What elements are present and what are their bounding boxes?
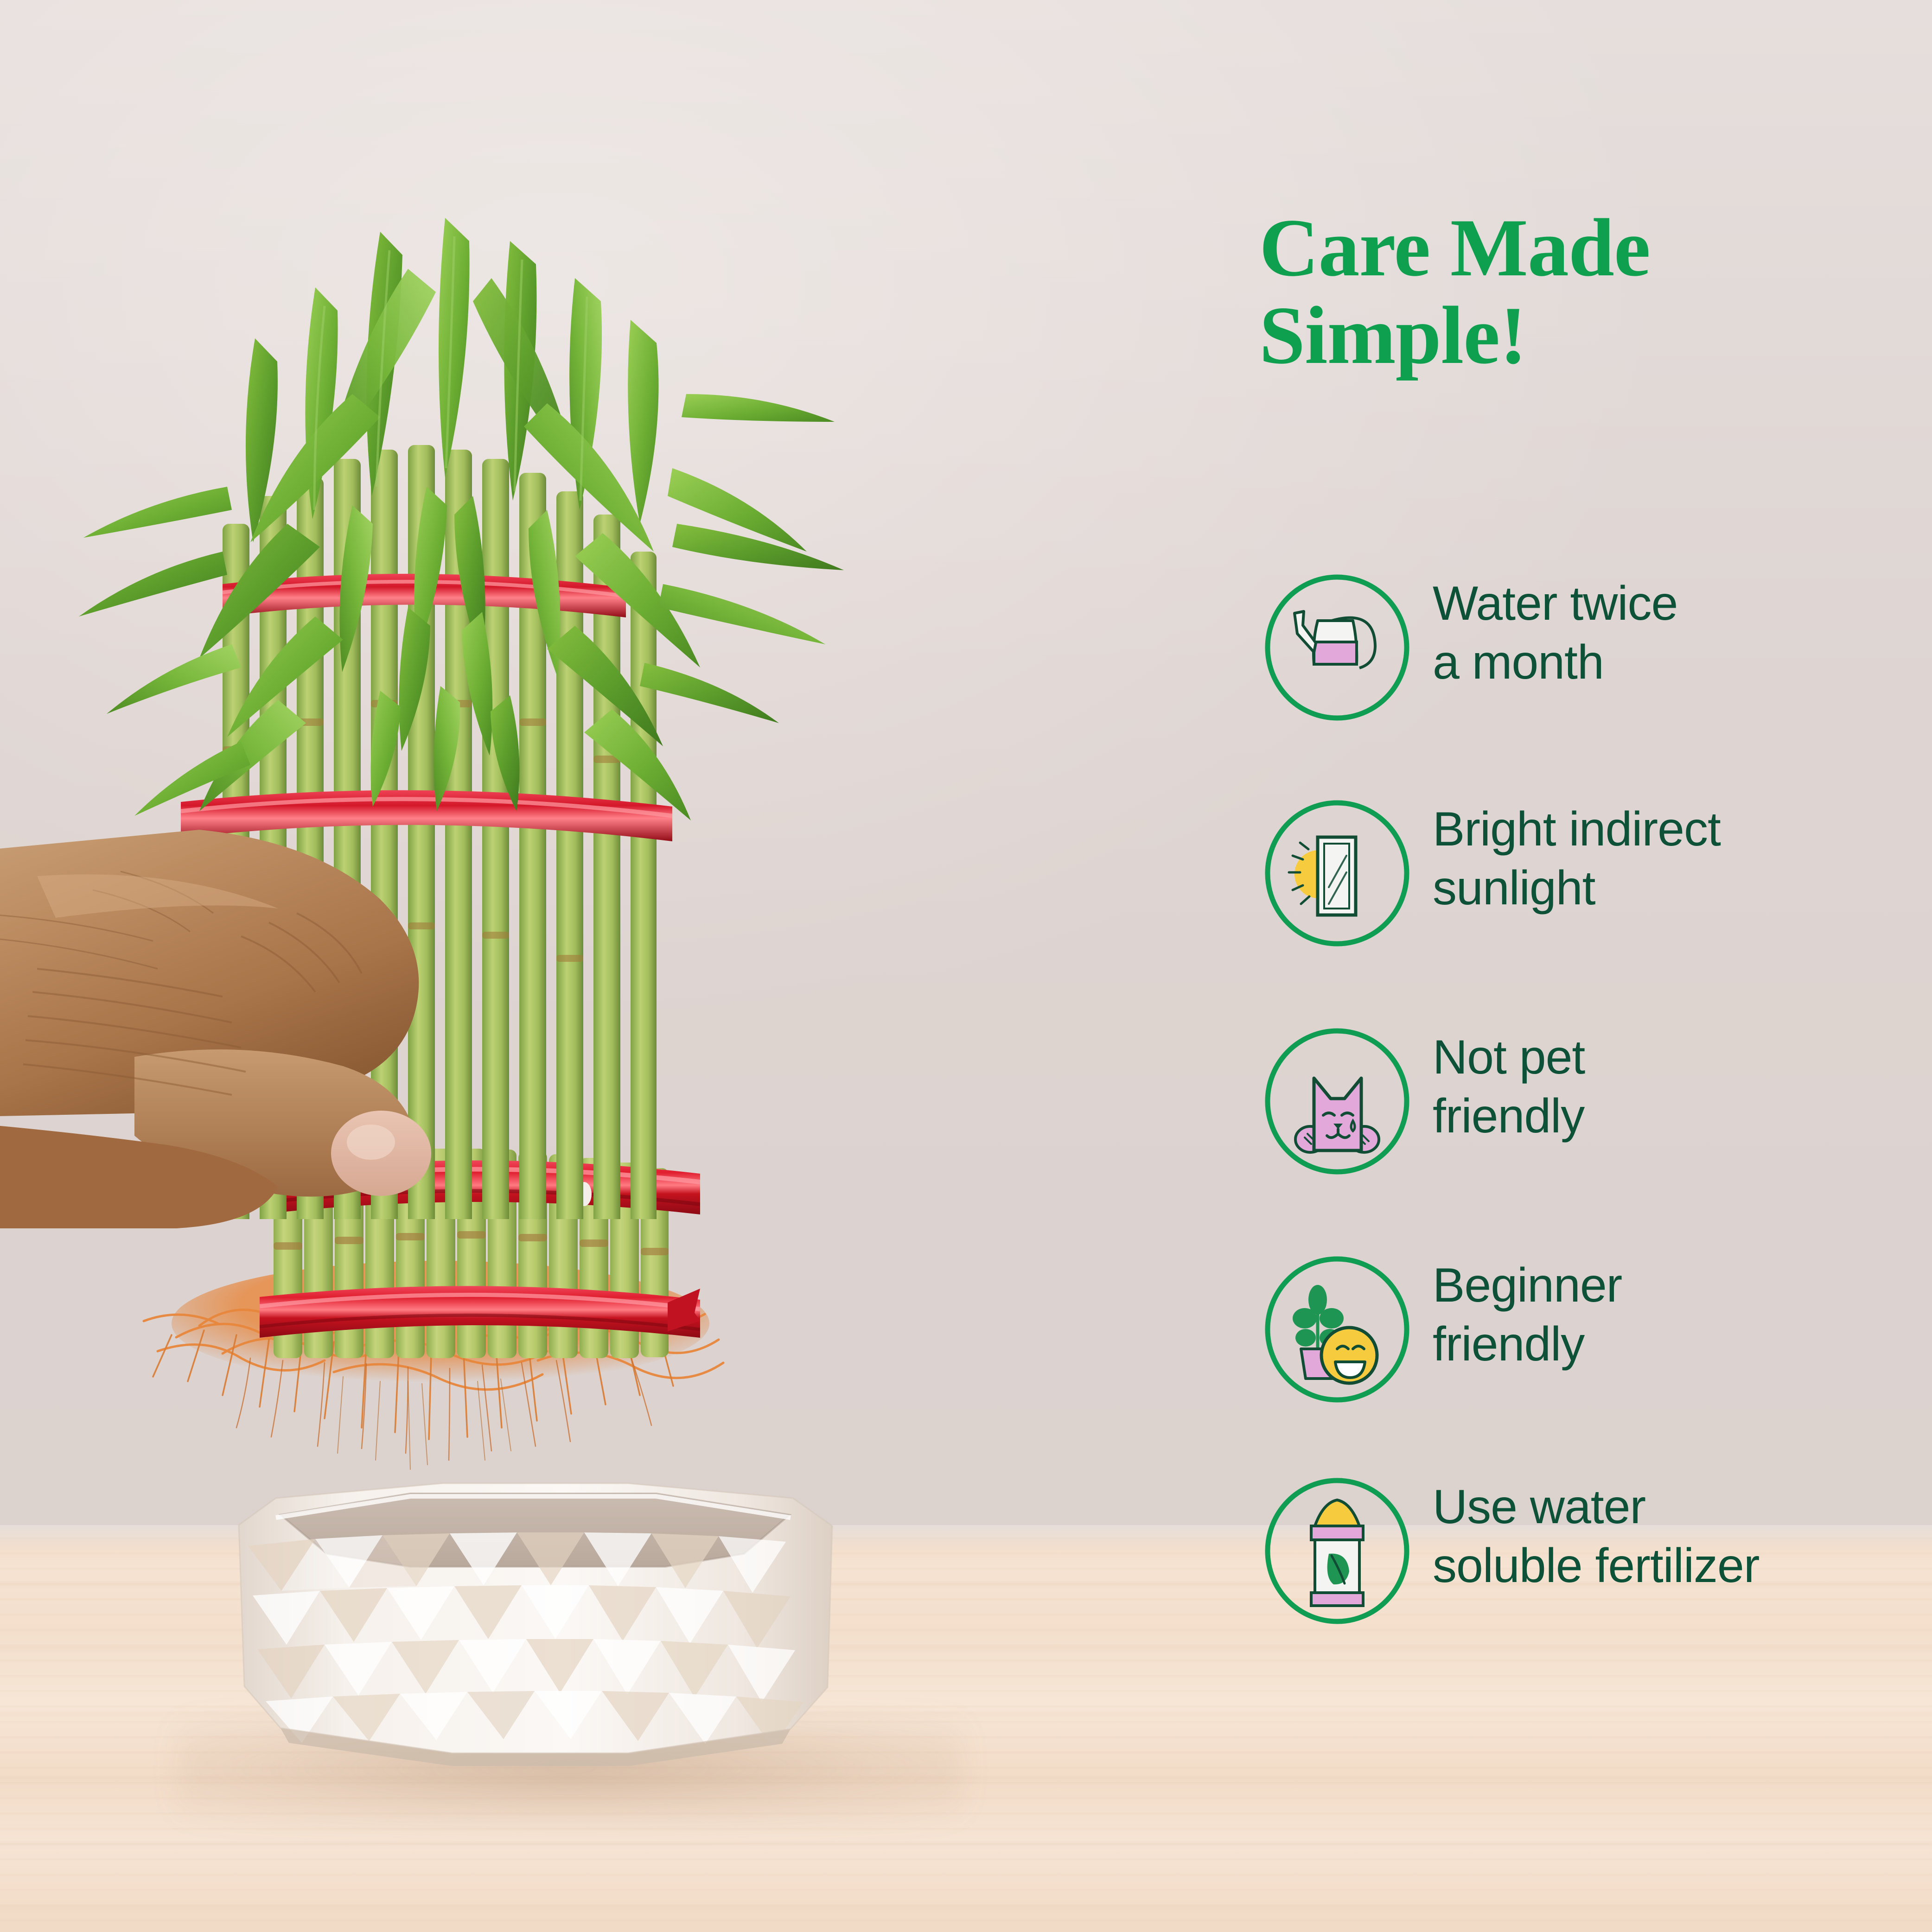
feature-beginner-line-1: Beginner	[1433, 1256, 1924, 1315]
feature-beginner: Beginner friendly	[1252, 1240, 1932, 1462]
feature-water-label: Water twice a month	[1433, 574, 1924, 692]
feature-pet: Not pet friendly	[1252, 1012, 1932, 1240]
feature-beginner-line-2: friendly	[1433, 1315, 1924, 1374]
feature-fertilizer: Use water soluble fertilizer	[1252, 1462, 1932, 1688]
feature-pet-line-1: Not pet	[1433, 1028, 1924, 1087]
feature-fertilizer-line-2: soluble fertilizer	[1433, 1537, 1924, 1595]
fertilizer-container-icon	[1258, 1472, 1416, 1630]
potted-plant-smiley-icon	[1258, 1251, 1416, 1408]
feature-pet-label: Not pet friendly	[1433, 1028, 1924, 1146]
page-title: Care Made Simple!	[1259, 204, 1918, 379]
feature-fertilizer-label: Use water soluble fertilizer	[1433, 1478, 1924, 1595]
feature-water-line-1: Water twice	[1433, 574, 1924, 633]
feature-pet-line-2: friendly	[1433, 1087, 1924, 1146]
sad-cat-icon	[1258, 1023, 1416, 1180]
hand-holding-plant	[0, 760, 575, 1270]
feature-light-label: Bright indirect sunlight	[1433, 800, 1924, 918]
feature-water-line-2: a month	[1433, 633, 1924, 692]
feature-water: Water twice a month	[1252, 559, 1932, 784]
product-care-infographic: Care Made Simple!	[0, 0, 1932, 1932]
feature-beginner-label: Beginner friendly	[1433, 1256, 1924, 1374]
headline-line-2: Simple!	[1259, 292, 1918, 379]
watering-can-icon	[1258, 569, 1416, 726]
plant-photo-composition	[0, 0, 1066, 1932]
feature-light-line-1: Bright indirect	[1433, 800, 1924, 859]
geometric-white-pot	[211, 1469, 860, 1775]
care-panel: Care Made Simple!	[1252, 0, 1932, 1932]
sun-window-icon	[1258, 794, 1416, 952]
care-feature-list: Water twice a month	[1252, 559, 1932, 1688]
feature-light: Bright indirect sunlight	[1252, 784, 1932, 1012]
feature-fertilizer-line-1: Use water	[1433, 1478, 1924, 1537]
headline-line-1: Care Made	[1259, 204, 1918, 292]
feature-light-line-2: sunlight	[1433, 859, 1924, 918]
